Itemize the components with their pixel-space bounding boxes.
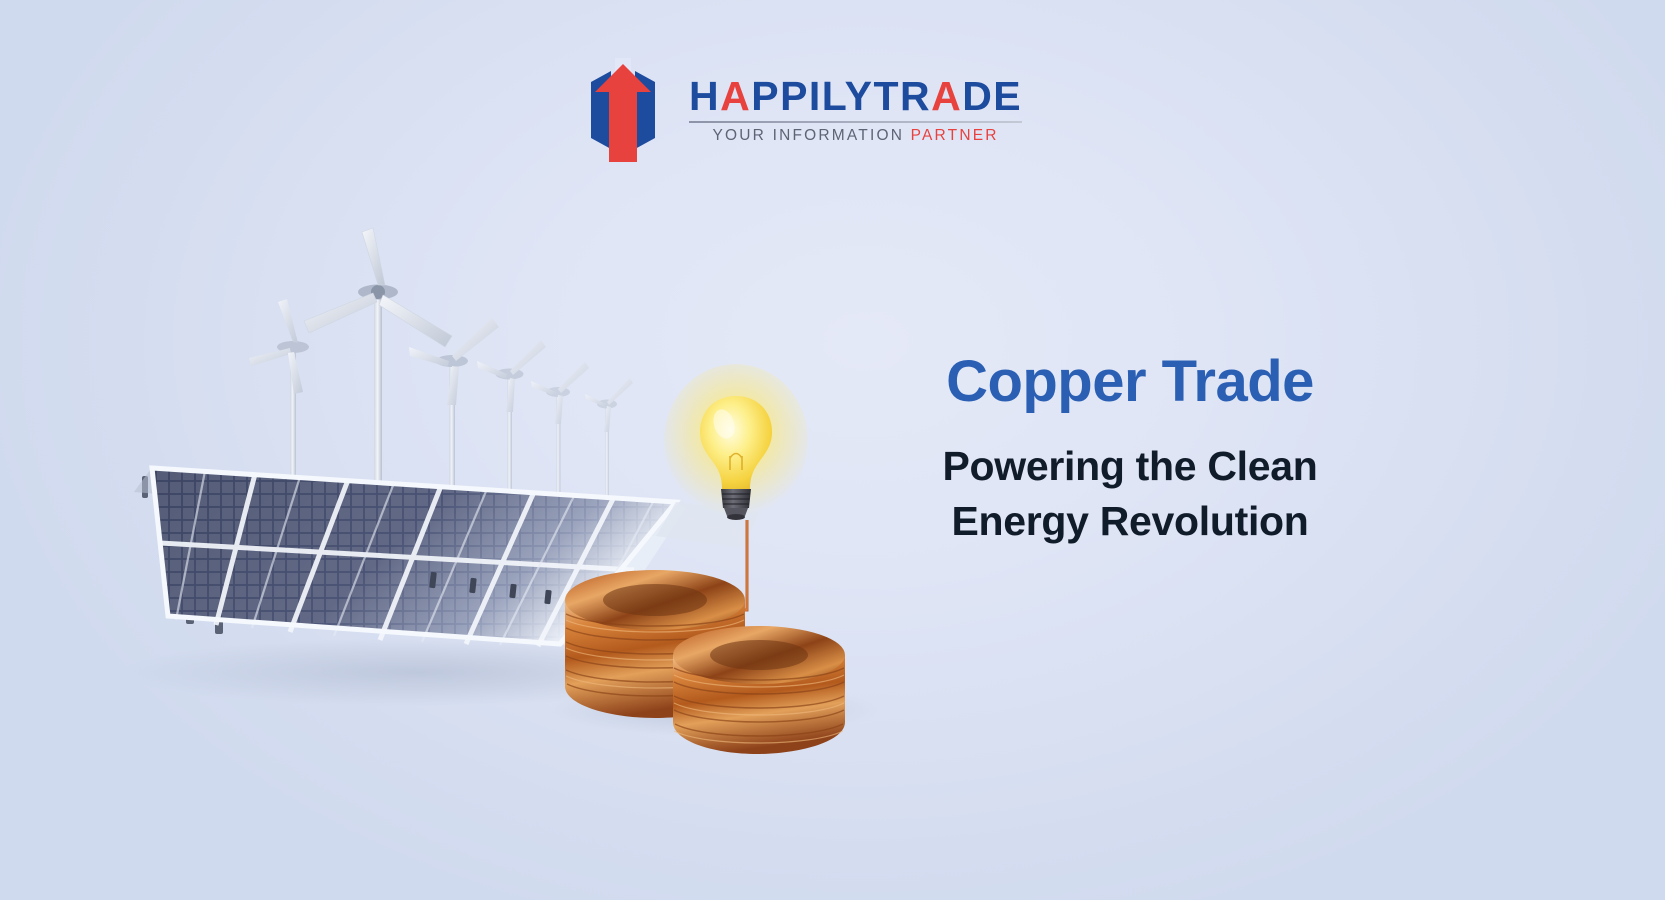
headline-block: Copper Trade Powering the Clean Energy R… [880, 352, 1380, 549]
happily-trade-h-arrow-mark [575, 58, 671, 162]
wordmark-seg-3: TR [873, 76, 931, 117]
subtitle-line-1: Powering the Clean [942, 443, 1317, 489]
wordmark-seg-1: A [720, 76, 751, 117]
page-subtitle: Powering the Clean Energy Revolution [880, 439, 1380, 549]
wordmark-seg-2: PPILY [751, 76, 873, 117]
logo-wordmark-block: HAPPILY TRADE YOUR INFORMATION PARTNER [689, 76, 1022, 145]
tagline-prefix: YOUR INFORMATION [712, 127, 910, 144]
logo-divider-rule [689, 121, 1022, 123]
brand-logo[interactable]: HAPPILY TRADE YOUR INFORMATION PARTNER [575, 58, 1022, 162]
poster-canvas: HAPPILY TRADE YOUR INFORMATION PARTNER C… [0, 0, 1665, 900]
wordmark-seg-4: A [931, 76, 962, 117]
page-title: Copper Trade [880, 352, 1380, 413]
subtitle-line-2: Energy Revolution [880, 494, 1380, 549]
logo-tagline: YOUR INFORMATION PARTNER [689, 127, 1022, 145]
logo-wordmark: HAPPILY TRADE [689, 76, 1022, 117]
wordmark-seg-0: H [689, 76, 720, 117]
copper-wire-coils [550, 570, 880, 754]
glowing-light-bulb [664, 364, 808, 520]
wordmark-seg-5: DE [962, 76, 1022, 117]
copper-coil-right [673, 626, 845, 754]
tagline-accent: PARTNER [911, 127, 999, 144]
